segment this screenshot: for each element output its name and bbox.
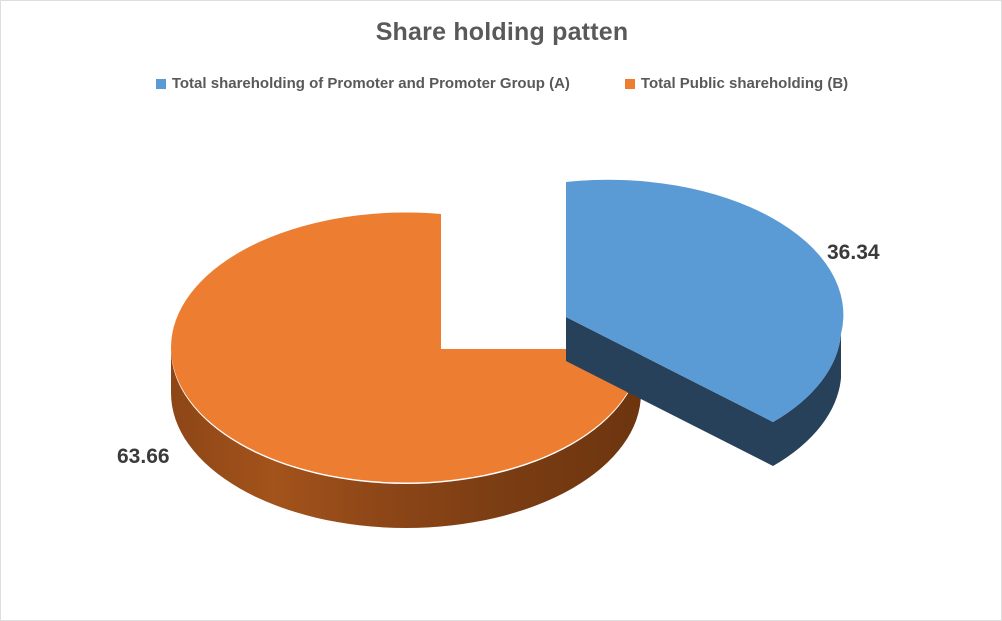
chart-container: Share holding patten Total shareholding …: [0, 0, 1002, 621]
data-label-promoter: 36.34: [827, 241, 880, 265]
data-label-public: 63.66: [117, 445, 170, 469]
pie-chart-graphic: [1, 1, 1002, 621]
